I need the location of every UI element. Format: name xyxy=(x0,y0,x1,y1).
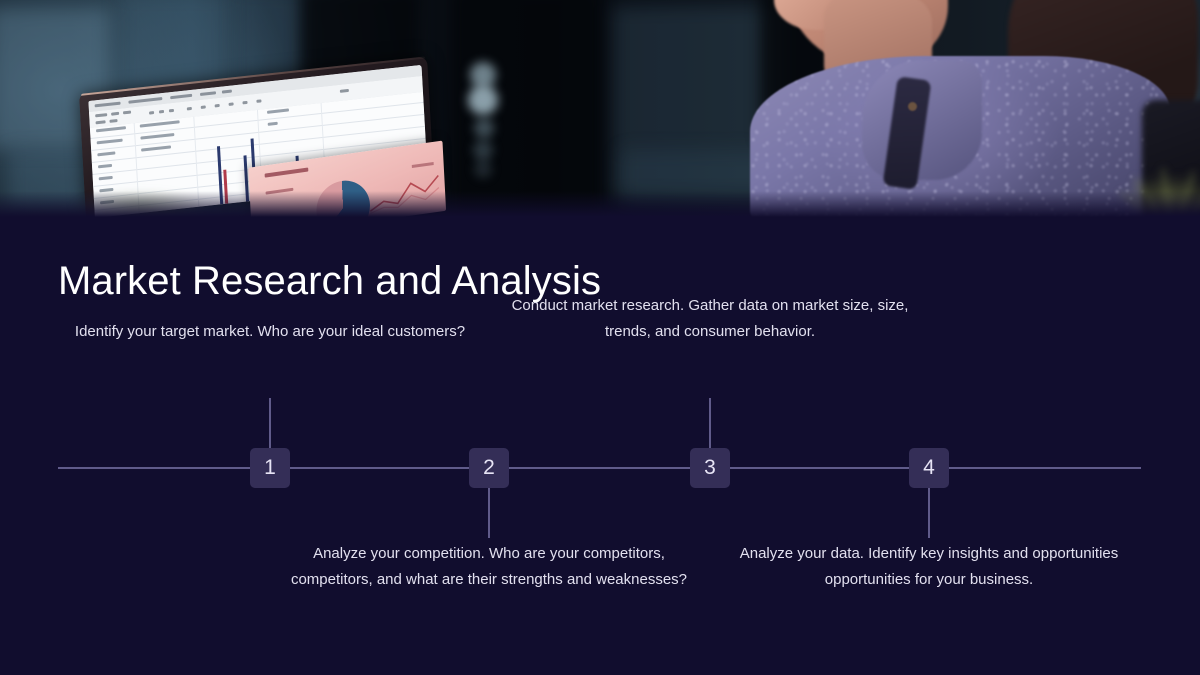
timeline-marker-4[interactable]: 4 xyxy=(909,448,949,488)
slide: Market Research and Analysis Identify yo… xyxy=(0,0,1200,675)
bokeh-light-icon xyxy=(474,118,494,138)
timeline-connector-4 xyxy=(928,488,930,538)
bokeh-light-icon xyxy=(474,160,492,178)
timeline-connector-2 xyxy=(488,488,490,538)
bokeh-light-icon xyxy=(473,140,493,160)
timeline-connector-1 xyxy=(269,398,271,448)
timeline-marker-3[interactable]: 3 xyxy=(690,448,730,488)
timeline-caption-3: Conduct market research. Gather data on … xyxy=(510,293,910,345)
document-legend-line xyxy=(412,162,434,168)
document-title-line xyxy=(265,167,309,177)
timeline-caption-1: Identify your target market. Who are you… xyxy=(70,319,470,345)
button-icon xyxy=(908,102,917,111)
content-panel: Market Research and Analysis Identify yo… xyxy=(0,217,1200,675)
timeline-caption-4: Analyze your data. Identify key insights… xyxy=(729,541,1129,593)
timeline-connector-3 xyxy=(709,398,711,448)
timeline-caption-2: Analyze your competition. Who are your c… xyxy=(289,541,689,593)
timeline-axis xyxy=(58,467,1141,469)
hero-image xyxy=(0,0,1200,217)
bokeh-light-icon xyxy=(468,85,498,115)
hero-bottom-fade xyxy=(0,191,1200,217)
timeline-marker-1[interactable]: 1 xyxy=(250,448,290,488)
timeline-marker-2[interactable]: 2 xyxy=(469,448,509,488)
